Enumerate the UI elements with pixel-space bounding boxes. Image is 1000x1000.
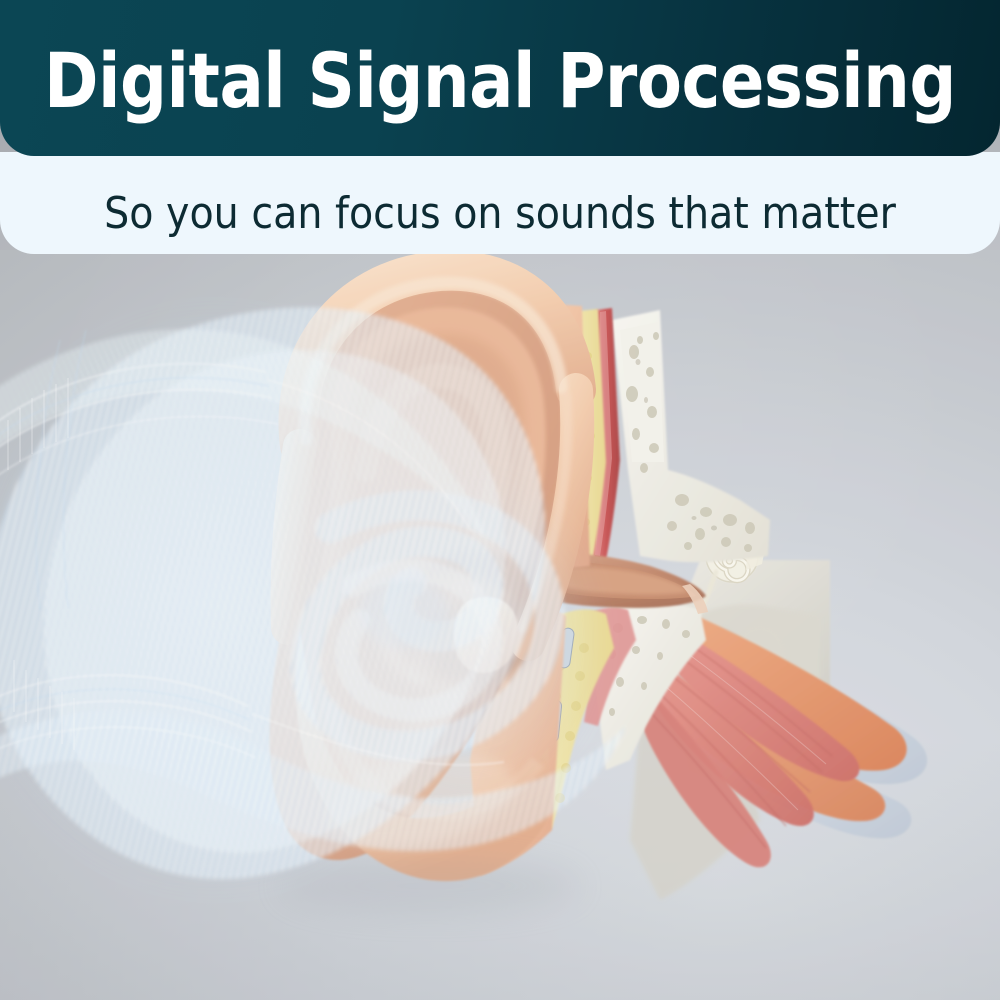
page-subtitle: So you can focus on sounds that matter — [104, 170, 896, 236]
title-band: Digital Signal Processing — [0, 0, 1000, 156]
subtitle-band: So you can focus on sounds that matter — [0, 152, 1000, 254]
promo-card: Digital Signal Processing So you can foc… — [0, 0, 1000, 1000]
page-title: Digital Signal Processing — [44, 37, 956, 119]
